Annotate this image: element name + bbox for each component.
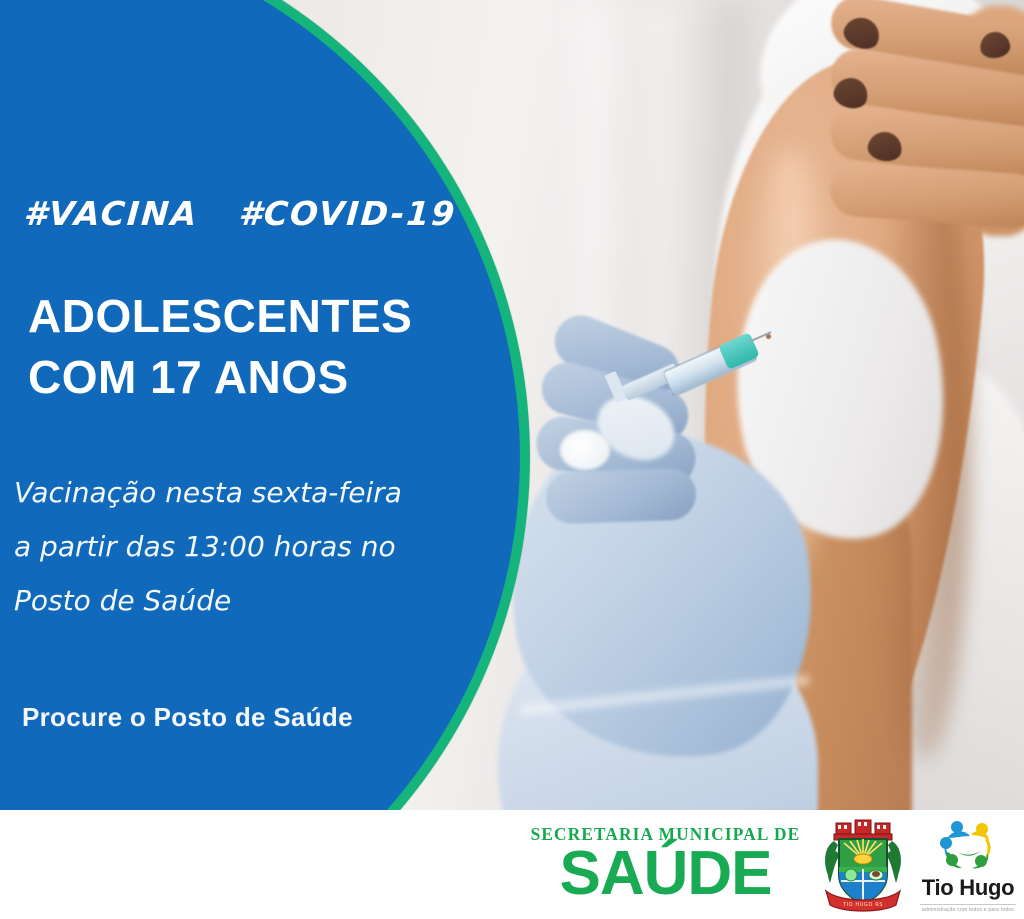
glove-finger: [545, 467, 697, 524]
secretaria-line: SECRETARIA MUNICIPAL DE: [531, 825, 801, 843]
tio-hugo-logo: Tio Hugo administração com todos e para …: [920, 816, 1016, 913]
poster-copy: #VACINA #COVID-19 ADOLESCENTES COM 17 AN…: [0, 0, 540, 919]
page-title: ADOLESCENTES COM 17 ANOS: [28, 286, 412, 407]
cotton-swab: [560, 430, 610, 470]
secretaria-saude-logo: SECRETARIA MUNICIPAL DE SAÚDE: [525, 825, 806, 904]
vaccination-campaign-poster: #VACINA #COVID-19 ADOLESCENTES COM 17 AN…: [0, 0, 1024, 919]
body-line-3: Posto de Saúde: [14, 574, 402, 628]
call-to-action: Procure o Posto de Saúde: [22, 702, 353, 733]
people-circle-icon: [935, 816, 1001, 874]
headline-line-1: ADOLESCENTES: [28, 286, 412, 347]
brasao-motto: TIO HUGO RS: [842, 902, 883, 908]
footer-bar: SECRETARIA MUNICIPAL DE SAÚDE: [0, 810, 1024, 919]
divider: [920, 904, 1016, 905]
hashtags: #VACINA #COVID-19: [23, 194, 458, 233]
footer-logos: SECRETARIA MUNICIPAL DE SAÚDE: [525, 810, 1016, 919]
coat-of-arms-icon: TIO HUGO RS: [820, 817, 906, 913]
tio-hugo-tagline: administração com todos e para todos: [922, 907, 1014, 913]
hand-on-shoulder: [830, 0, 1024, 300]
tio-hugo-wordmark: Tio Hugo: [922, 875, 1015, 901]
body-line-2: a partir das 13:00 horas no: [14, 520, 402, 574]
saude-wordmark: SAÚDE: [559, 845, 771, 904]
headline-line-2: COM 17 ANOS: [28, 347, 412, 408]
body-line-1: Vacinação nesta sexta-feira: [14, 466, 402, 520]
body-text: Vacinação nesta sexta-feira a partir das…: [14, 466, 402, 627]
